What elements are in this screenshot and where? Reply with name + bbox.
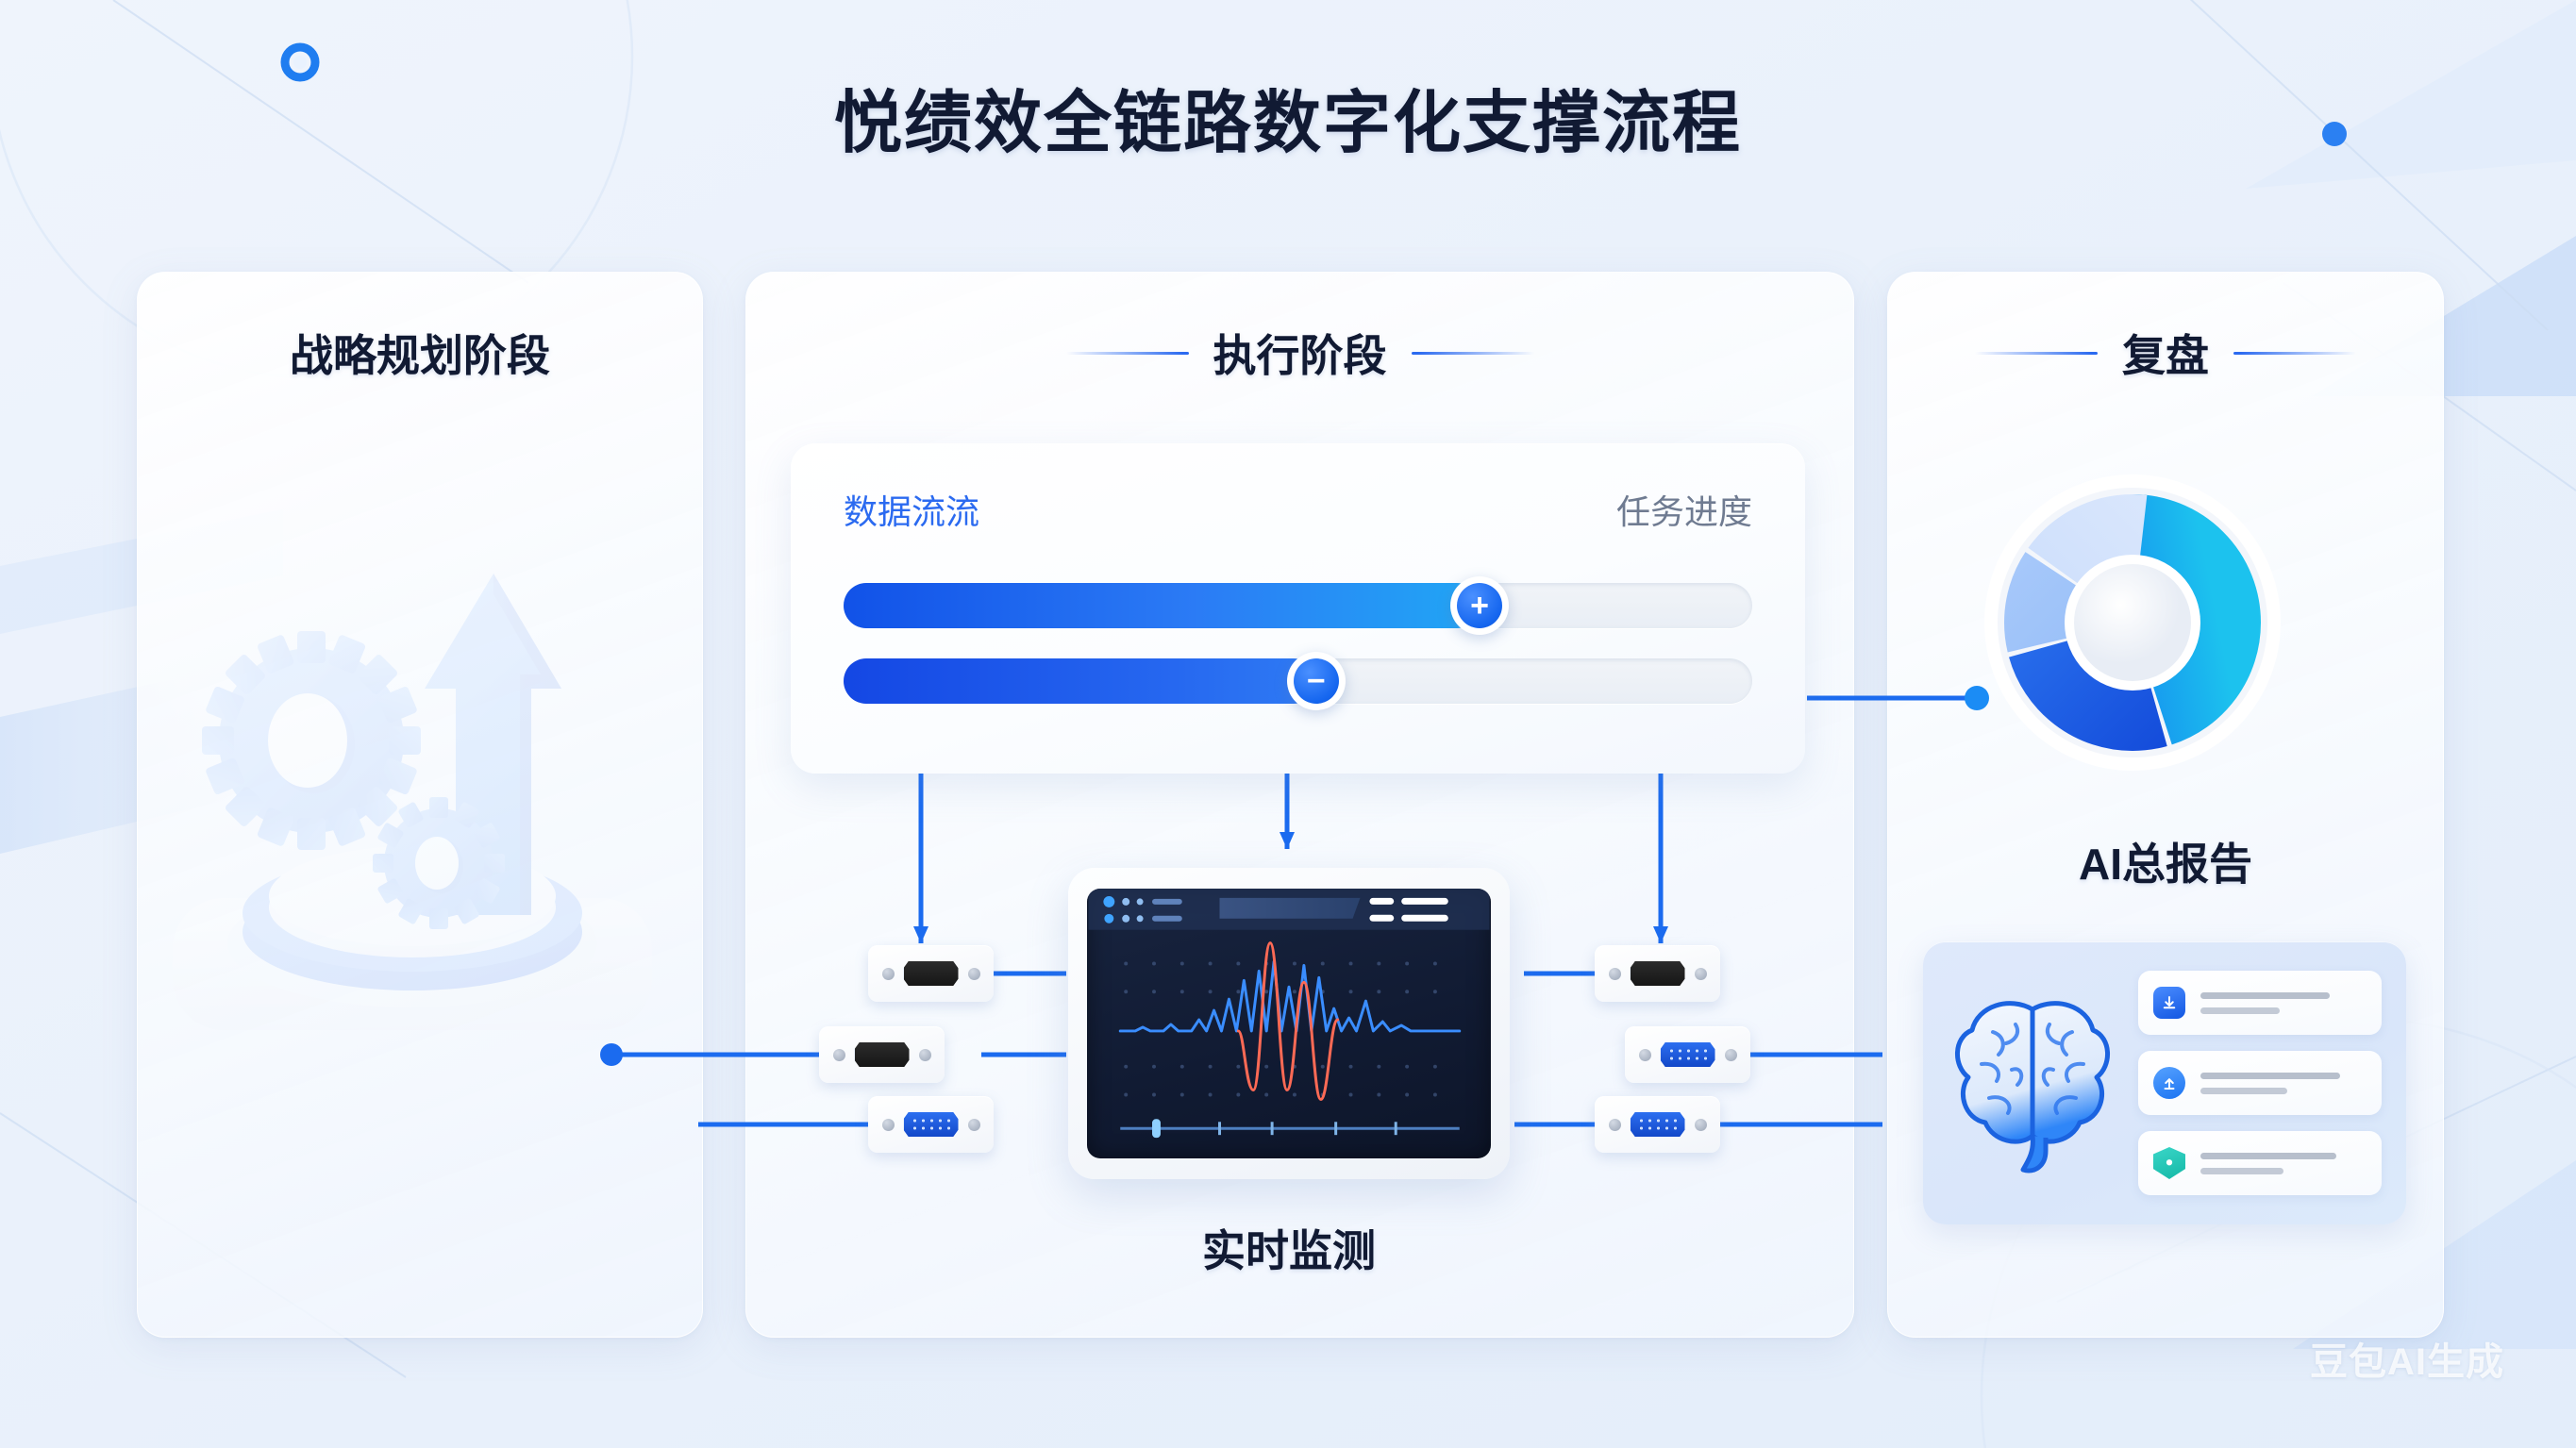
list-item[interactable]: [2138, 1051, 2382, 1115]
minus-icon: −: [1294, 658, 1339, 704]
screw-icon: [1639, 1049, 1651, 1061]
ai-report-label: AI总报告: [1887, 830, 2444, 892]
socket-blue-icon: [1631, 1112, 1685, 1137]
download-square-icon: [2153, 987, 2185, 1019]
list-item[interactable]: [2138, 1131, 2382, 1195]
placeholder-lines: [2200, 1153, 2367, 1174]
panel-left-title: 战略规划阶段: [290, 322, 550, 384]
slider-fill-2: [844, 658, 1316, 704]
rule-left-right-panel: [1975, 352, 2098, 355]
label-task-progress: 任务进度: [1616, 485, 1752, 534]
placeholder-lines: [2200, 1073, 2367, 1094]
screw-icon: [882, 968, 895, 980]
port-plate: [1625, 1026, 1750, 1083]
port-plate: [819, 1026, 945, 1083]
upload-circle-icon: [2153, 1067, 2185, 1099]
data-flow-slider[interactable]: +: [844, 583, 1752, 628]
screw-icon: [882, 1119, 895, 1131]
socket-dark-icon: [1631, 961, 1685, 986]
waveform-display: [1087, 889, 1491, 1158]
screw-icon: [1695, 968, 1707, 980]
page-title: 悦绩效全链路数字化支撑流程: [0, 87, 2576, 161]
slider-card-labels: 数据流流 任务进度: [844, 485, 1752, 534]
port-plate: [868, 1096, 994, 1153]
rule-right: [1412, 352, 1534, 355]
socket-dark-icon: [855, 1042, 910, 1067]
waveform-svg: [1087, 889, 1491, 1158]
port-left-top[interactable]: [868, 945, 994, 1002]
port-plate: [868, 945, 994, 1002]
screw-icon: [919, 1049, 931, 1061]
port-right-mid[interactable]: [1625, 1026, 1750, 1083]
panel-strategic-planning: 战略规划阶段: [137, 272, 703, 1338]
insight-rows: [2138, 971, 2382, 1195]
socket-blue-icon: [904, 1112, 959, 1137]
list-item[interactable]: [2138, 971, 2382, 1035]
port-left-mid[interactable]: [819, 1026, 945, 1083]
ai-insights-card: [1923, 941, 2406, 1224]
title-bar: 悦绩效全链路数字化支撑流程: [0, 87, 2576, 161]
timeline-scrubber: [1152, 1119, 1161, 1138]
label-data-flow: 数据流流: [844, 485, 979, 534]
slider-handle-minus[interactable]: −: [1287, 652, 1346, 710]
screw-icon: [968, 968, 980, 980]
socket-blue-icon: [1661, 1042, 1715, 1067]
ai-report-donut-chart: [1982, 472, 2283, 774]
task-progress-slider[interactable]: −: [844, 658, 1752, 704]
screw-icon: [1609, 968, 1621, 980]
realtime-monitor: [1068, 868, 1510, 1179]
panel-center-title: 执行阶段: [1213, 322, 1387, 384]
panel-center-header: 执行阶段: [746, 322, 1853, 384]
port-plate: [1595, 1096, 1720, 1153]
execution-slider-card: 数据流流 任务进度 + −: [791, 443, 1805, 774]
monitor-label: 实时监测: [1068, 1217, 1510, 1279]
shield-check-icon: [2153, 1147, 2185, 1179]
panel-left-header: 战略规划阶段: [138, 322, 702, 384]
socket-dark-icon: [904, 961, 959, 986]
port-plate: [1595, 945, 1720, 1002]
port-right-bottom[interactable]: [1595, 1096, 1720, 1153]
slider-handle-plus[interactable]: +: [1450, 576, 1509, 635]
placeholder-lines: [2200, 992, 2367, 1014]
rule-right-right-panel: [2233, 352, 2356, 355]
port-right-top[interactable]: [1595, 945, 1720, 1002]
plus-icon: +: [1457, 583, 1502, 628]
screw-icon: [1609, 1119, 1621, 1131]
screw-icon: [1725, 1049, 1737, 1061]
brain-icon: [1948, 989, 2117, 1177]
port-left-bottom[interactable]: [868, 1096, 994, 1153]
panel-right-title: 复盘: [2122, 322, 2209, 384]
rule-left: [1066, 352, 1189, 355]
panel-right-header: 复盘: [1888, 322, 2443, 384]
slider-fill-1: [844, 583, 1480, 628]
screw-icon: [833, 1049, 845, 1061]
watermark: 豆包AI生成: [2310, 1331, 2504, 1386]
screw-icon: [1695, 1119, 1707, 1131]
screw-icon: [968, 1119, 980, 1131]
